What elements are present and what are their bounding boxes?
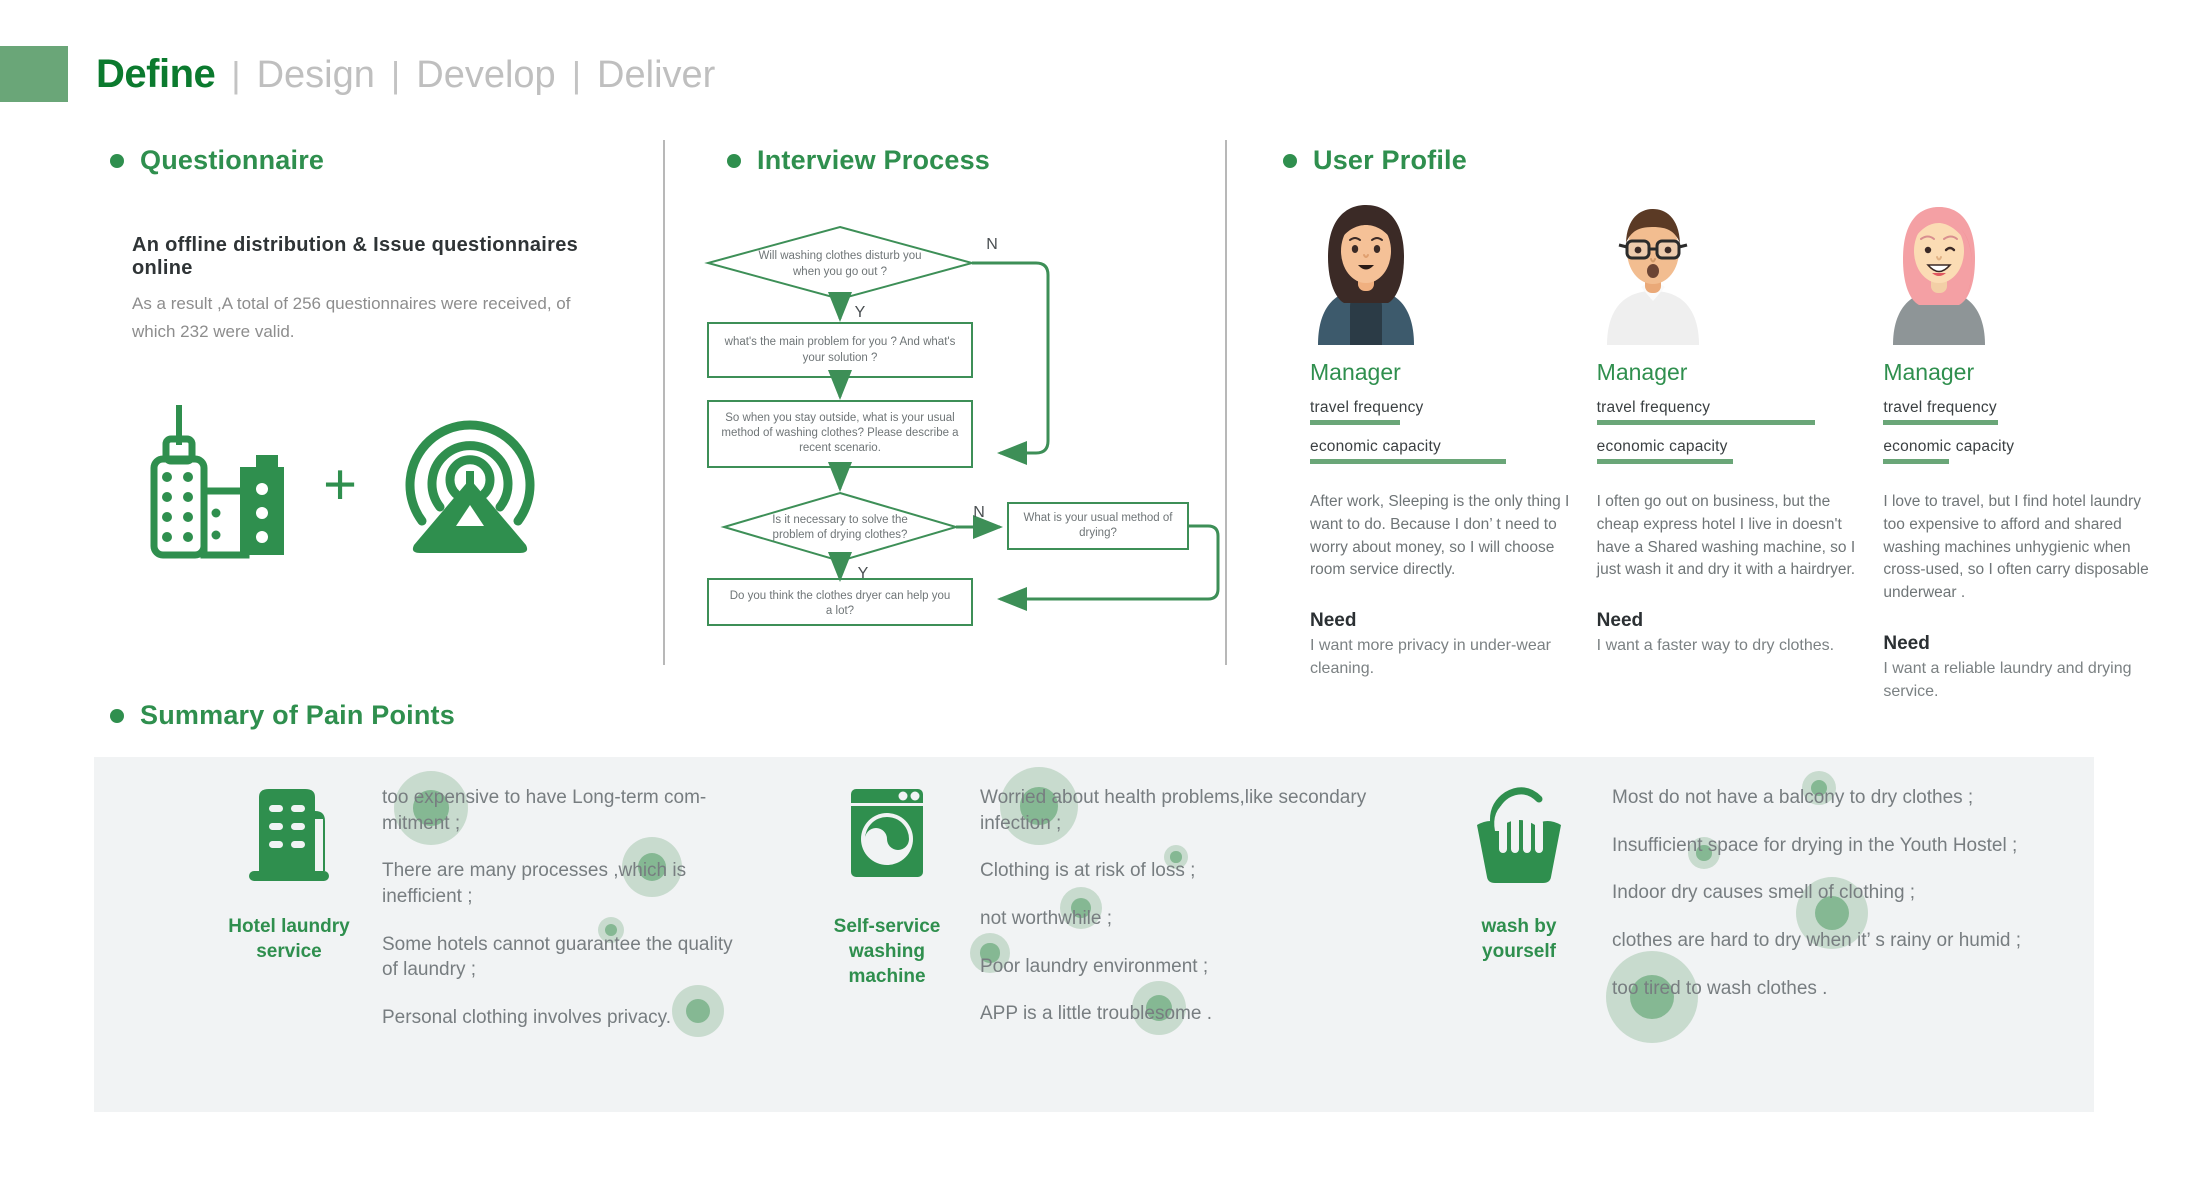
avatar xyxy=(1310,195,1583,345)
persona-quote: I often go out on business, but the chea… xyxy=(1597,491,1870,582)
persona-card: Manager travel frequency economic capaci… xyxy=(1597,195,1870,703)
persona-need: I want more privacy in under-wear cleani… xyxy=(1310,634,1583,680)
svg-text:method of washing clothes? Pl: method of washing clothes? Please descri… xyxy=(721,427,959,439)
bullet-icon xyxy=(110,709,124,723)
flow-label-no-1: N xyxy=(986,236,998,253)
woman-pink-hair-avatar xyxy=(1883,195,1995,345)
pain-item-list: Worried about health problems,like secon… xyxy=(952,785,1374,1112)
profile-heading: User Profile xyxy=(1283,145,2163,176)
pain-column: Hotel laundryservice too expensive to ha… xyxy=(94,757,734,1112)
persona-attr-bar xyxy=(1310,420,1583,425)
persona-attr-label: economic capacity xyxy=(1597,438,1870,456)
questionnaire-lead: An offline distribution & Issue question… xyxy=(132,234,610,280)
wireless-broadcast-icon xyxy=(380,393,560,578)
flow-label-yes-1: Y xyxy=(855,304,866,321)
persona-card: Manager travel frequency economic capaci… xyxy=(1310,195,1583,703)
tab-design[interactable]: Design xyxy=(257,54,375,97)
persona-card: Manager travel frequency economic capaci… xyxy=(1883,195,2156,703)
pain-item: Worried about health problems,like secon… xyxy=(980,785,1374,836)
questionnaire-section: Questionnaire An offline distribution & … xyxy=(110,145,610,346)
persona-attr-label: travel frequency xyxy=(1597,399,1870,417)
pain-item: too expensive to have Long-term com-mitm… xyxy=(382,785,734,836)
pain-column-label: Self-servicewashingmachine xyxy=(822,914,952,989)
pain-column: wash byyourself Most do not have a balco… xyxy=(1374,757,2094,1112)
interview-heading: Interview Process xyxy=(727,145,1287,176)
persona-attr-bar xyxy=(1883,420,2156,425)
flow-process-1-label: what's the main problem for you ? And wh… xyxy=(724,336,956,348)
pain-item: Personal clothing involves privacy. xyxy=(382,1005,734,1031)
flow-process-4-shape xyxy=(708,579,972,625)
questionnaire-title: Questionnaire xyxy=(140,145,324,176)
page-header: Define | Design | Develop | Deliver xyxy=(0,46,715,102)
pain-item: APP is a little troublesome . xyxy=(980,1001,1374,1027)
man-glasses-avatar xyxy=(1597,195,1709,345)
flow-decision-2-shape xyxy=(724,493,956,561)
tab-develop[interactable]: Develop xyxy=(416,54,555,97)
persona-attr-bar xyxy=(1597,420,1870,425)
tab-deliver[interactable]: Deliver xyxy=(597,54,715,97)
pain-panel: Hotel laundryservice too expensive to ha… xyxy=(94,757,2094,1112)
persona-attr-label: travel frequency xyxy=(1883,399,2156,417)
tab-define[interactable]: Define xyxy=(96,52,215,97)
bullet-icon xyxy=(727,154,741,168)
interview-flowchart: Will washing clothes disturb you when yo… xyxy=(700,215,1320,645)
pain-item: clothes are hard to dry when it’ s rainy… xyxy=(1612,928,2094,954)
hotel-building-icon xyxy=(243,785,335,895)
persona-attr-bar xyxy=(1883,459,2156,464)
bullet-icon xyxy=(1283,154,1297,168)
persona-role: Manager xyxy=(1597,359,1870,386)
avatar xyxy=(1883,195,2156,345)
svg-text:problem of drying clothes?: problem of drying clothes? xyxy=(773,529,908,541)
office-building-icon xyxy=(120,393,300,578)
persona-quote: I love to travel, but I find hotel laund… xyxy=(1883,491,2156,605)
pain-item-list: Most do not have a balcony to dry clothe… xyxy=(1584,785,2094,1112)
pain-column-label: wash byyourself xyxy=(1454,914,1584,964)
tab-separator-2: | xyxy=(391,54,400,96)
tab-separator-1: | xyxy=(231,54,240,96)
questionnaire-heading: Questionnaire xyxy=(110,145,610,176)
persona-need-title: Need xyxy=(1597,610,1870,632)
avatar xyxy=(1597,195,1870,345)
pain-item-list: too expensive to have Long-term com-mitm… xyxy=(354,785,734,1112)
column-divider-1 xyxy=(663,140,665,665)
persona-list: Manager travel frequency economic capaci… xyxy=(1310,195,2170,703)
profile-section: User Profile xyxy=(1283,145,2163,176)
flow-process-2-label: So when you stay outside, what is your u… xyxy=(725,412,955,424)
flow-decision-2-label: Is it necessary to solve the xyxy=(772,514,908,526)
pain-item: Most do not have a balcony to dry clothe… xyxy=(1612,785,2094,811)
profile-title: User Profile xyxy=(1313,145,1467,176)
pain-item: not worthwhile ; xyxy=(980,906,1374,932)
flow-process-3-shape xyxy=(1008,503,1188,549)
hand-wash-basket-icon xyxy=(1473,785,1565,895)
svg-text:drying?: drying? xyxy=(1079,527,1117,539)
tab-separator-3: | xyxy=(572,54,581,96)
pain-item: Insufficient space for drying in the You… xyxy=(1612,833,2094,859)
persona-role: Manager xyxy=(1310,359,1583,386)
poster-root: Define | Design | Develop | Deliver Ques… xyxy=(0,0,2188,1200)
questionnaire-icons: + xyxy=(120,395,560,575)
flow-process-4-label: Do you think the clothes dryer can help … xyxy=(730,590,951,602)
svg-text:recent scenario.: recent scenario. xyxy=(799,442,881,454)
pain-item: There are many processes ,which is ineff… xyxy=(382,858,734,909)
bullet-icon xyxy=(110,154,124,168)
flow-decision-1-label: Will washing clothes disturb you xyxy=(759,250,922,262)
flow-process-1-shape xyxy=(708,323,972,377)
plus-operator: + xyxy=(323,456,357,514)
flow-process-3-label: What is your usual method of xyxy=(1024,512,1174,524)
persona-need-title: Need xyxy=(1310,610,1583,632)
svg-text:your solution ?: your solution ? xyxy=(803,352,878,364)
persona-need: I want a faster way to dry clothes. xyxy=(1597,634,1870,657)
persona-need-title: Need xyxy=(1883,633,2156,655)
pain-title: Summary of Pain Points xyxy=(140,700,455,731)
pain-heading: Summary of Pain Points xyxy=(110,700,455,731)
woman-dark-hair-avatar xyxy=(1310,195,1422,345)
questionnaire-subtext: As a result ,A total of 256 questionnair… xyxy=(132,290,592,346)
pain-column: Self-servicewashingmachine Worried about… xyxy=(734,757,1374,1112)
pain-item: Poor laundry environment ; xyxy=(980,954,1374,980)
pain-item: too tired to wash clothes . xyxy=(1612,976,2094,1002)
phase-tabs: Define | Design | Develop | Deliver xyxy=(96,52,715,97)
persona-attr-label: economic capacity xyxy=(1883,438,2156,456)
flow-decision-1-shape xyxy=(708,227,972,299)
persona-need: I want a reliable laundry and drying ser… xyxy=(1883,657,2156,703)
pain-item: Clothing is at risk of loss ; xyxy=(980,858,1374,884)
washing-machine-icon xyxy=(841,785,933,895)
interview-section: Interview Process xyxy=(727,145,1287,176)
persona-attr-label: economic capacity xyxy=(1310,438,1583,456)
persona-attr-bar xyxy=(1597,459,1870,464)
persona-quote: After work, Sleeping is the only thing I… xyxy=(1310,491,1583,582)
interview-title: Interview Process xyxy=(757,145,990,176)
flow-label-yes-2: Y xyxy=(858,565,869,582)
pain-item: Indoor dry causes smell of clothing ; xyxy=(1612,880,2094,906)
svg-text:a lot?: a lot? xyxy=(826,605,854,617)
persona-role: Manager xyxy=(1883,359,2156,386)
header-color-swatch xyxy=(0,46,68,102)
flow-label-no-2: N xyxy=(973,504,985,521)
persona-attr-label: travel frequency xyxy=(1310,399,1583,417)
svg-text:when you go out ?: when you go out ? xyxy=(792,266,887,278)
pain-item: Some hotels cannot guarantee the quality… xyxy=(382,932,734,983)
pain-column-label: Hotel laundryservice xyxy=(224,914,354,964)
persona-attr-bar xyxy=(1310,459,1583,464)
